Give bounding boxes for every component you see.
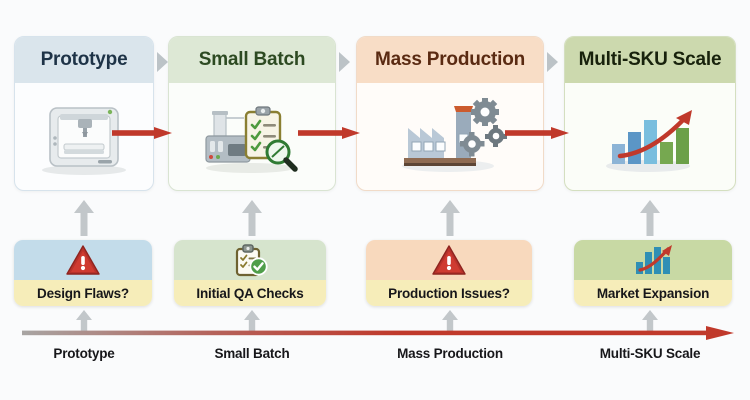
timeline-label-multi-sku-scale: Multi-SKU Scale — [564, 346, 736, 361]
callout-label-production-issues: Production Issues? — [366, 280, 532, 306]
callout-label-design-flaws: Design Flaws? — [14, 280, 152, 306]
stage-title-prototype: Prototype — [15, 37, 153, 83]
chevron-right-icon-1 — [339, 52, 350, 72]
stage-title-small-batch: Small Batch — [169, 37, 335, 83]
callout-initial-qa-checks[interactable]: Initial QA Checks — [174, 240, 326, 306]
growth-bar-chart-icon — [632, 244, 674, 276]
callout-production-issues[interactable]: Production Issues? — [366, 240, 532, 306]
stage-illustration-multi-sku-scale — [565, 83, 735, 191]
stage-title-multi-sku-scale: Multi-SKU Scale — [565, 37, 735, 83]
timeline-label-mass-production: Mass Production — [356, 346, 544, 361]
chevron-right-icon-2 — [547, 52, 558, 72]
stage-card-mass-production[interactable]: Mass Production — [356, 36, 544, 191]
callout-label-initial-qa-checks: Initial QA Checks — [174, 280, 326, 306]
stage-card-multi-sku-scale[interactable]: Multi-SKU Scale — [564, 36, 736, 191]
callout-icon-area-0 — [14, 240, 152, 280]
chevron-right-icon-0 — [157, 52, 168, 72]
flow-arrow-icon-2 — [505, 127, 569, 139]
up-arrow-icon-1 — [241, 200, 263, 236]
timeline-label-prototype: Prototype — [14, 346, 154, 361]
growth-bar-chart-icon — [590, 94, 710, 180]
flow-arrow-icon-0 — [112, 127, 172, 139]
timeline-label-small-batch: Small Batch — [168, 346, 336, 361]
timeline-axis — [22, 326, 734, 340]
callout-icon-area-3 — [574, 240, 732, 280]
callout-icon-area-2 — [366, 240, 532, 280]
callout-design-flaws[interactable]: Design Flaws? — [14, 240, 152, 306]
up-arrow-icon-3 — [639, 200, 661, 236]
up-arrow-icon-0 — [73, 200, 95, 236]
stage-card-small-batch[interactable]: Small Batch — [168, 36, 336, 191]
factory-gears-icon — [390, 94, 510, 180]
machine-clipboard-magnifier-icon — [192, 94, 312, 180]
flow-arrow-icon-1 — [298, 127, 360, 139]
warning-triangle-icon — [66, 245, 100, 276]
callout-market-expansion[interactable]: Market Expansion — [574, 240, 732, 306]
warning-triangle-icon — [432, 245, 466, 276]
up-arrow-icon-2 — [439, 200, 461, 236]
clipboard-check-icon — [231, 244, 269, 277]
process-flow-diagram: Prototype Small Batch — [0, 0, 750, 400]
callout-icon-area-1 — [174, 240, 326, 280]
stage-card-prototype[interactable]: Prototype — [14, 36, 154, 191]
stage-title-mass-production: Mass Production — [357, 37, 543, 83]
callout-label-market-expansion: Market Expansion — [574, 280, 732, 306]
